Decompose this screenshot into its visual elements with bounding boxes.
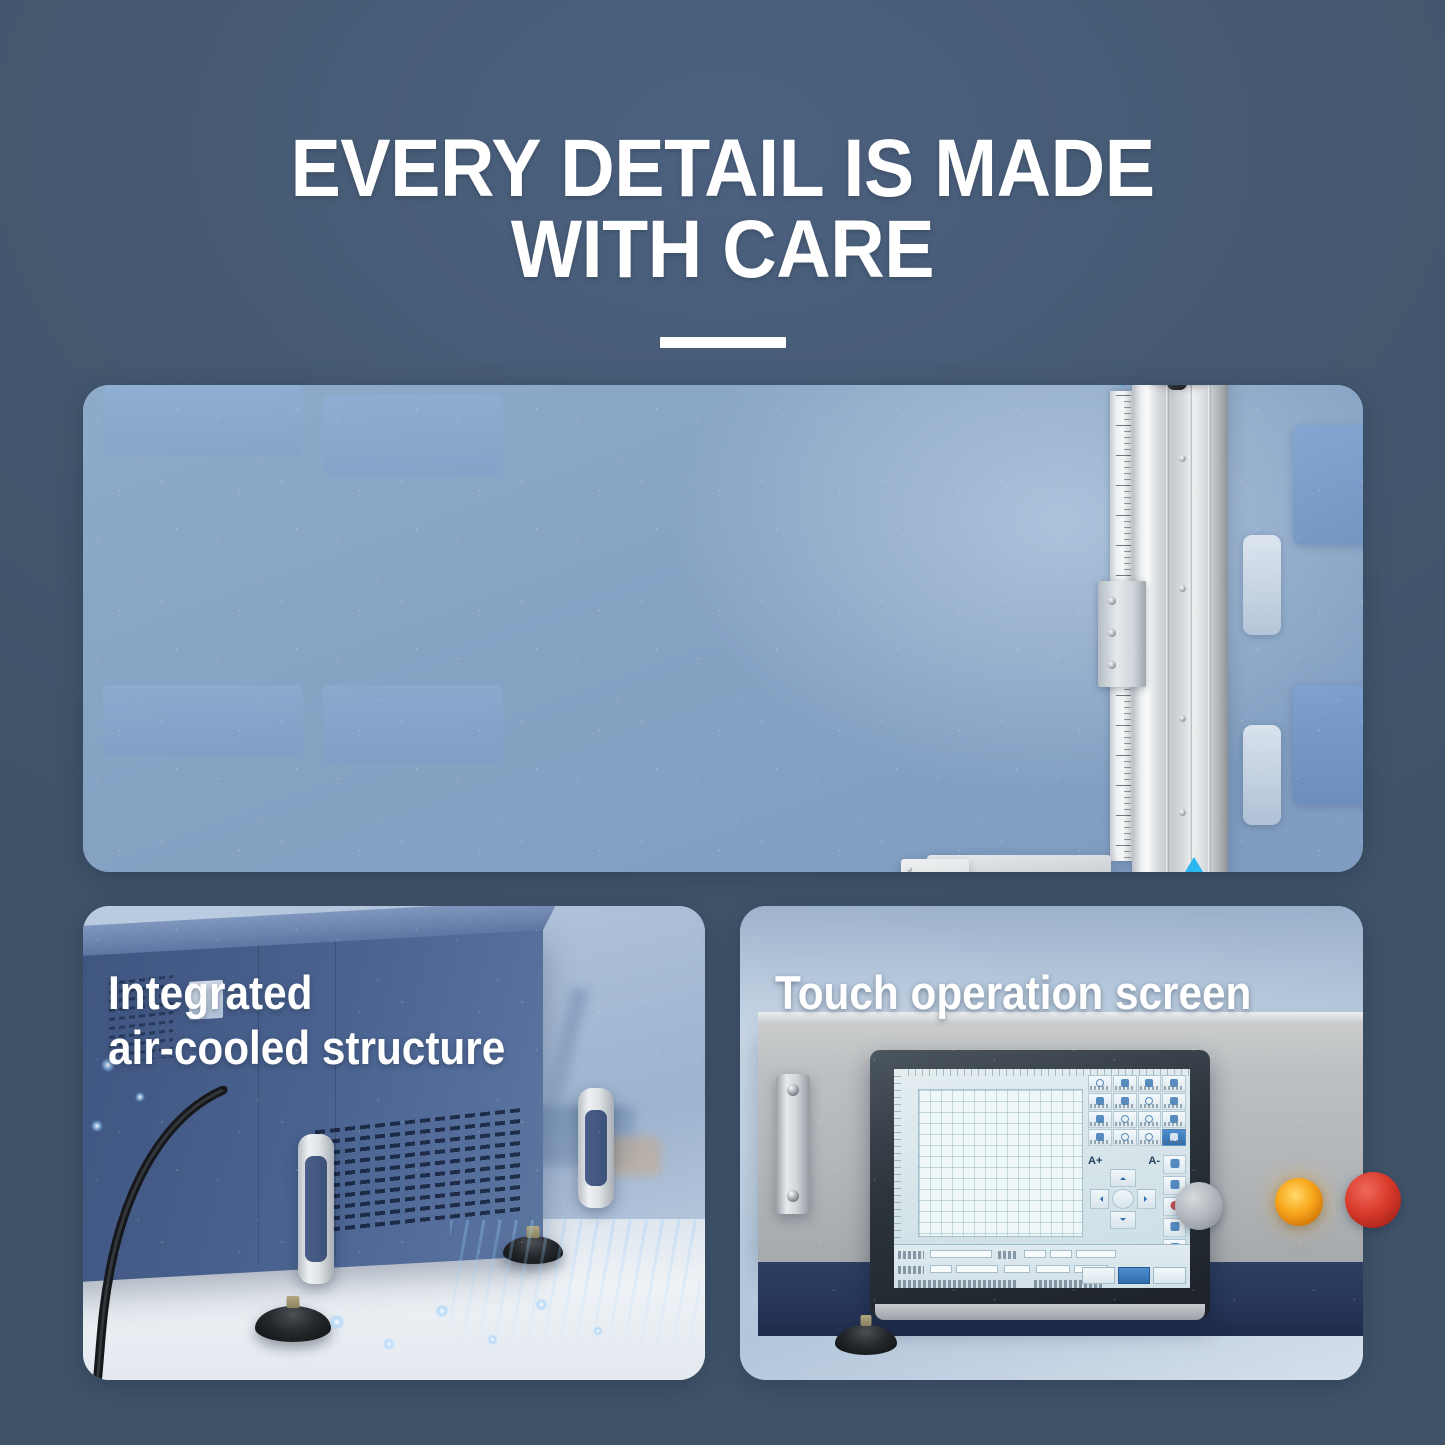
side-button[interactable] <box>1163 1155 1186 1174</box>
scale-tick <box>1124 503 1131 504</box>
scale-tick <box>1116 695 1131 696</box>
scale-tick <box>1124 509 1131 510</box>
scale-tick <box>1124 731 1131 732</box>
dpad-down-button[interactable] <box>1110 1211 1136 1229</box>
scale-tick <box>1124 431 1131 432</box>
title-line-2: WITH CARE <box>58 209 1387 290</box>
scale-tick <box>1124 713 1131 714</box>
slider-carriage <box>1098 581 1146 687</box>
scale-tick <box>1124 857 1131 858</box>
tool-cell[interactable] <box>1162 1093 1186 1110</box>
scale-tick <box>1124 437 1131 438</box>
scale-tick <box>1124 461 1131 462</box>
action-button-primary[interactable] <box>1118 1267 1151 1284</box>
scale-tick <box>1124 809 1131 810</box>
action-button-left[interactable] <box>1082 1267 1115 1284</box>
direction-pad[interactable] <box>1090 1169 1156 1229</box>
tool-cell-selected[interactable] <box>1162 1129 1186 1146</box>
font-decrease-label[interactable]: A- <box>1148 1155 1160 1167</box>
scale-tick <box>1116 515 1131 516</box>
touchscreen-display[interactable]: A+ A- <box>894 1069 1190 1288</box>
action-button-right[interactable] <box>1153 1267 1186 1284</box>
ghost-machine-block <box>323 395 503 475</box>
tool-cell-text[interactable] <box>1088 1111 1112 1128</box>
ghost-machine-block <box>103 685 303 755</box>
leveling-foot <box>835 1325 897 1355</box>
rotary-handwheel[interactable] <box>1105 385 1255 420</box>
panel-label-air-cooled: Integrated air-cooled structure <box>108 966 505 1075</box>
glow-particle <box>383 1338 395 1350</box>
scale-tick <box>1124 689 1131 690</box>
tool-cell[interactable] <box>1138 1093 1162 1110</box>
scale-tick <box>1116 785 1131 786</box>
start-button[interactable] <box>1175 1182 1223 1230</box>
scale-tick <box>1124 551 1131 552</box>
dpad-left-button[interactable] <box>1090 1189 1109 1209</box>
glow-particle <box>593 1326 603 1336</box>
scale-tick <box>1116 575 1131 576</box>
machine-handle <box>1243 535 1281 635</box>
scale-tick <box>1124 479 1131 480</box>
scale-tick <box>1124 539 1131 540</box>
scale-tick <box>1124 497 1131 498</box>
scale-tick <box>1124 719 1131 720</box>
scale-tick <box>1124 467 1131 468</box>
dpad-right-button[interactable] <box>1137 1189 1156 1209</box>
marking-work-area-grid[interactable] <box>918 1089 1083 1237</box>
scale-tick <box>1124 443 1131 444</box>
panel-lift-focus: Lift to adjust the focus <box>83 385 1363 872</box>
scale-tick <box>1116 455 1131 456</box>
scale-tick <box>1124 527 1131 528</box>
scale-tick <box>1124 833 1131 834</box>
scale-tick <box>1124 803 1131 804</box>
scale-tick <box>1124 767 1131 768</box>
scale-tick <box>1124 533 1131 534</box>
scale-tick <box>1116 815 1131 816</box>
glow-particle <box>435 1304 449 1318</box>
scale-tick <box>1116 545 1131 546</box>
scale-tick <box>1124 701 1131 702</box>
machine-handle <box>1243 725 1281 825</box>
airflow-glow <box>450 1220 700 1370</box>
status-indicator[interactable] <box>1275 1178 1323 1226</box>
scale-tick <box>1124 821 1131 822</box>
scale-tick <box>1124 779 1131 780</box>
tool-cell[interactable] <box>1113 1129 1137 1146</box>
scale-tick <box>1116 845 1131 846</box>
toolbar-grid[interactable] <box>1088 1075 1186 1146</box>
page-title: EVERY DETAIL IS MADE WITH CARE <box>58 128 1387 290</box>
scale-tick <box>1124 473 1131 474</box>
machine-side-panel <box>1293 425 1363 545</box>
title-divider <box>660 337 786 348</box>
font-increase-label[interactable]: A+ <box>1088 1155 1102 1167</box>
scale-tick <box>1124 827 1131 828</box>
scale-tick <box>1124 797 1131 798</box>
ghost-machine-block <box>103 385 303 455</box>
title-line-1: EVERY DETAIL IS MADE <box>290 123 1154 214</box>
scale-tick <box>1124 449 1131 450</box>
front-plate <box>901 859 969 872</box>
dpad-center-button[interactable] <box>1112 1189 1134 1209</box>
scale-tick <box>1124 761 1131 762</box>
tool-cell[interactable] <box>1088 1075 1112 1092</box>
machine-handle-right[interactable] <box>578 1088 614 1208</box>
scale-tick <box>1124 557 1131 558</box>
parameter-bar <box>894 1244 1190 1288</box>
touchscreen-bezel: A+ A- <box>870 1050 1210 1318</box>
scale-tick <box>1124 491 1131 492</box>
scale-tick <box>1116 485 1131 486</box>
tool-cell[interactable] <box>1113 1075 1137 1092</box>
panel-label-touch-screen: Touch operation screen <box>775 966 1251 1021</box>
tool-cell[interactable] <box>1162 1075 1186 1092</box>
scale-tick <box>1116 755 1131 756</box>
glow-particle <box>329 1314 345 1330</box>
poster-canvas: EVERY DETAIL IS MADE WITH CARE <box>0 0 1445 1445</box>
tool-cell-zoom-out[interactable] <box>1138 1111 1162 1128</box>
machine-handle-left[interactable] <box>298 1134 334 1284</box>
arrow-up-icon <box>1151 853 1237 872</box>
ghost-machine-block <box>323 685 503 765</box>
font-size-controls[interactable]: A+ A- <box>1088 1153 1160 1169</box>
scale-tick <box>1116 425 1131 426</box>
cabinet-handle[interactable] <box>776 1074 810 1214</box>
scale-tick <box>1124 737 1131 738</box>
tool-cell[interactable] <box>1138 1129 1162 1146</box>
scale-tick <box>1124 563 1131 564</box>
scale-tick <box>1116 725 1131 726</box>
vertical-z-axis-column <box>1132 385 1228 872</box>
machine-side-panel <box>1293 685 1363 805</box>
emergency-stop-button[interactable] <box>1345 1172 1401 1228</box>
glow-particle <box>487 1334 498 1345</box>
tool-cell-zoom-in[interactable] <box>1113 1111 1137 1128</box>
tool-cell[interactable] <box>1138 1075 1162 1092</box>
lock-knob[interactable] <box>1167 385 1187 390</box>
tool-cell[interactable] <box>1113 1093 1137 1110</box>
scale-tick <box>1124 773 1131 774</box>
dpad-up-button[interactable] <box>1110 1169 1136 1187</box>
scale-tick <box>1124 743 1131 744</box>
scale-tick <box>1124 851 1131 852</box>
glow-particle <box>535 1298 548 1311</box>
tool-cell[interactable] <box>1088 1093 1112 1110</box>
action-buttons[interactable] <box>1082 1267 1186 1284</box>
power-cable <box>83 1086 293 1380</box>
scale-tick <box>1124 521 1131 522</box>
scale-tick <box>1124 791 1131 792</box>
scale-tick <box>1124 839 1131 840</box>
vertical-ruler <box>894 1076 901 1244</box>
tool-cell[interactable] <box>1088 1129 1112 1146</box>
scale-tick <box>1124 749 1131 750</box>
tool-cell[interactable] <box>1162 1111 1186 1128</box>
scale-tick <box>1124 569 1131 570</box>
scale-tick <box>1124 707 1131 708</box>
